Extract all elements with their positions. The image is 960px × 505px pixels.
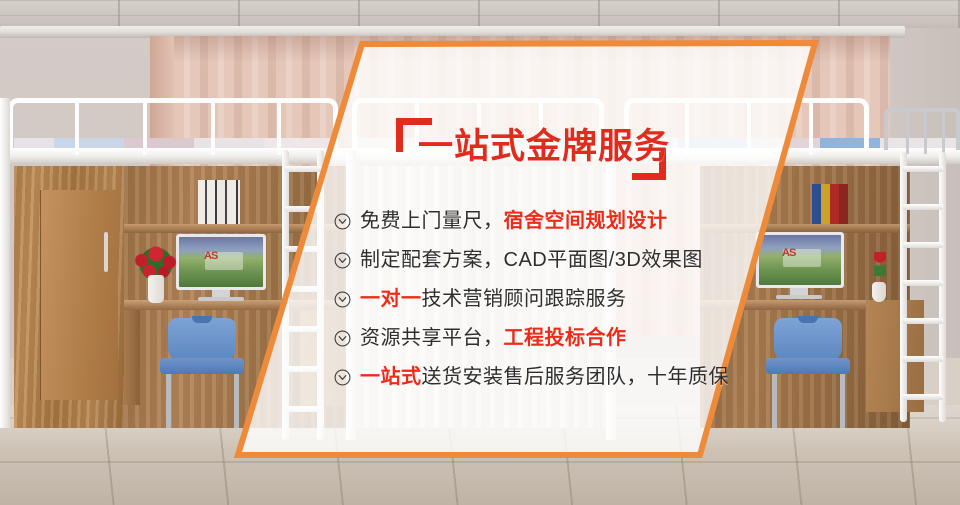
circle-chevron-down-icon [334, 213, 360, 230]
list-item-plain-1: 免费上门量尺， [360, 210, 504, 232]
circle-chevron-down-icon [334, 369, 360, 386]
circle-chevron-down-icon [334, 252, 360, 269]
list-item-plain-1: 资源共享平台， [360, 327, 504, 349]
list-item-plain-1: 制定配套方案，CAD平面图/3D效果图 [360, 249, 703, 271]
list-item: 免费上门量尺，宿舍空间规划设计 [334, 203, 754, 239]
list-item-text: 一站式送货安装售后服务团队，十年质保 [360, 366, 729, 388]
list-item-highlight: 一站式 [360, 366, 422, 388]
page-title: 一站式金牌服务 [418, 127, 670, 167]
list-item: 一站式送货安装售后服务团队，十年质保 [334, 359, 754, 395]
list-item-text: 免费上门量尺，宿舍空间规划设计 [360, 210, 668, 232]
list-item-text: 制定配套方案，CAD平面图/3D效果图 [360, 249, 703, 271]
list-item-text: 资源共享平台，工程投标合作 [360, 327, 627, 349]
title-block: 一站式金牌服务 [396, 118, 666, 180]
feature-list: 免费上门量尺，宿舍空间规划设计 制定配套方案，CAD平面图/3D效果图 [334, 203, 754, 398]
list-item: 资源共享平台，工程投标合作 [334, 320, 754, 356]
circle-chevron-down-icon [334, 291, 360, 308]
list-item-text: 一对一技术营销顾问跟踪服务 [360, 288, 627, 310]
list-item-highlight: 宿舍空间规划设计 [504, 210, 668, 232]
list-item: 一对一技术营销顾问跟踪服务 [334, 281, 754, 317]
circle-chevron-down-icon [334, 330, 360, 347]
service-banner: AS AS [0, 0, 960, 505]
list-item: 制定配套方案，CAD平面图/3D效果图 [334, 242, 754, 278]
list-item-plain-2: 送货安装售后服务团队，十年质保 [422, 366, 730, 388]
card-content: 一站式金牌服务 免费上门量尺，宿舍空间规划设计 [0, 0, 960, 505]
list-item-plain-2: 技术营销顾问跟踪服务 [422, 288, 627, 310]
list-item-highlight: 工程投标合作 [504, 327, 627, 349]
list-item-highlight: 一对一 [360, 288, 422, 310]
